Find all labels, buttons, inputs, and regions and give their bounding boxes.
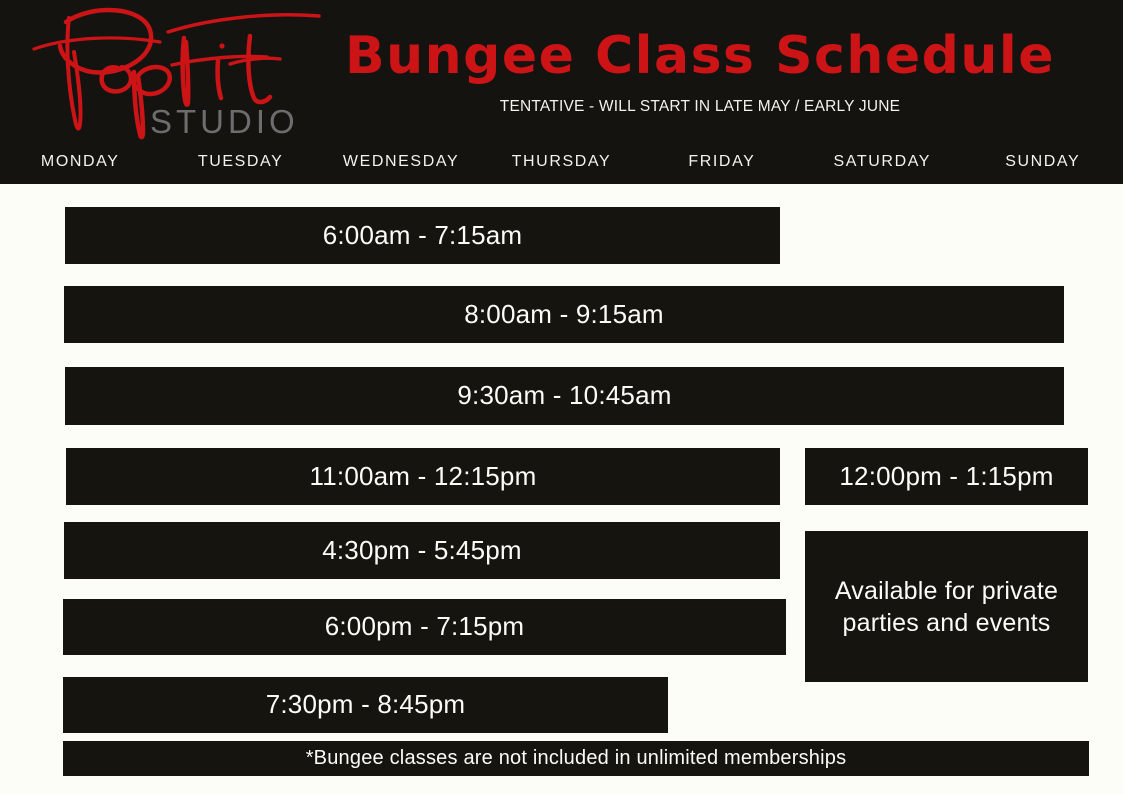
page-subtitle: TENTATIVE - WILL START IN LATE MAY / EAR… — [340, 98, 1060, 116]
class-block-7-30pm[interactable]: 7:30pm - 8:45pm — [63, 677, 668, 733]
class-block-6-00pm[interactable]: 6:00pm - 7:15pm — [63, 599, 786, 655]
weekday-header-row: MONDAY TUESDAY WEDNESDAY THURSDAY FRIDAY… — [0, 148, 1123, 178]
day-header-saturday: SATURDAY — [802, 148, 962, 178]
day-header-friday: FRIDAY — [642, 148, 802, 178]
class-block-4-30pm[interactable]: 4:30pm - 5:45pm — [64, 522, 780, 579]
page-title: Bungee Class Schedule — [340, 18, 1060, 94]
private-parties-block[interactable]: Available for private parties and events — [805, 531, 1088, 682]
membership-footnote: *Bungee classes are not included in unli… — [63, 741, 1089, 776]
popfit-logo: STUDIO — [22, 2, 322, 142]
class-block-8-00am[interactable]: 8:00am - 9:15am — [64, 286, 1064, 343]
day-header-thursday: THURSDAY — [481, 148, 641, 178]
class-block-12-00pm[interactable]: 12:00pm - 1:15pm — [805, 448, 1088, 505]
class-block-11-00am[interactable]: 11:00am - 12:15pm — [66, 448, 780, 505]
class-block-6-00am[interactable]: 6:00am - 7:15am — [65, 207, 780, 264]
logo-studio-text: STUDIO — [150, 103, 299, 141]
day-header-tuesday: TUESDAY — [160, 148, 320, 178]
header-banner: STUDIO Bungee Class Schedule TENTATIVE -… — [0, 0, 1123, 184]
day-header-wednesday: WEDNESDAY — [321, 148, 481, 178]
day-header-sunday: SUNDAY — [963, 148, 1123, 178]
day-header-monday: MONDAY — [0, 148, 160, 178]
class-block-9-30am[interactable]: 9:30am - 10:45am — [65, 367, 1064, 425]
